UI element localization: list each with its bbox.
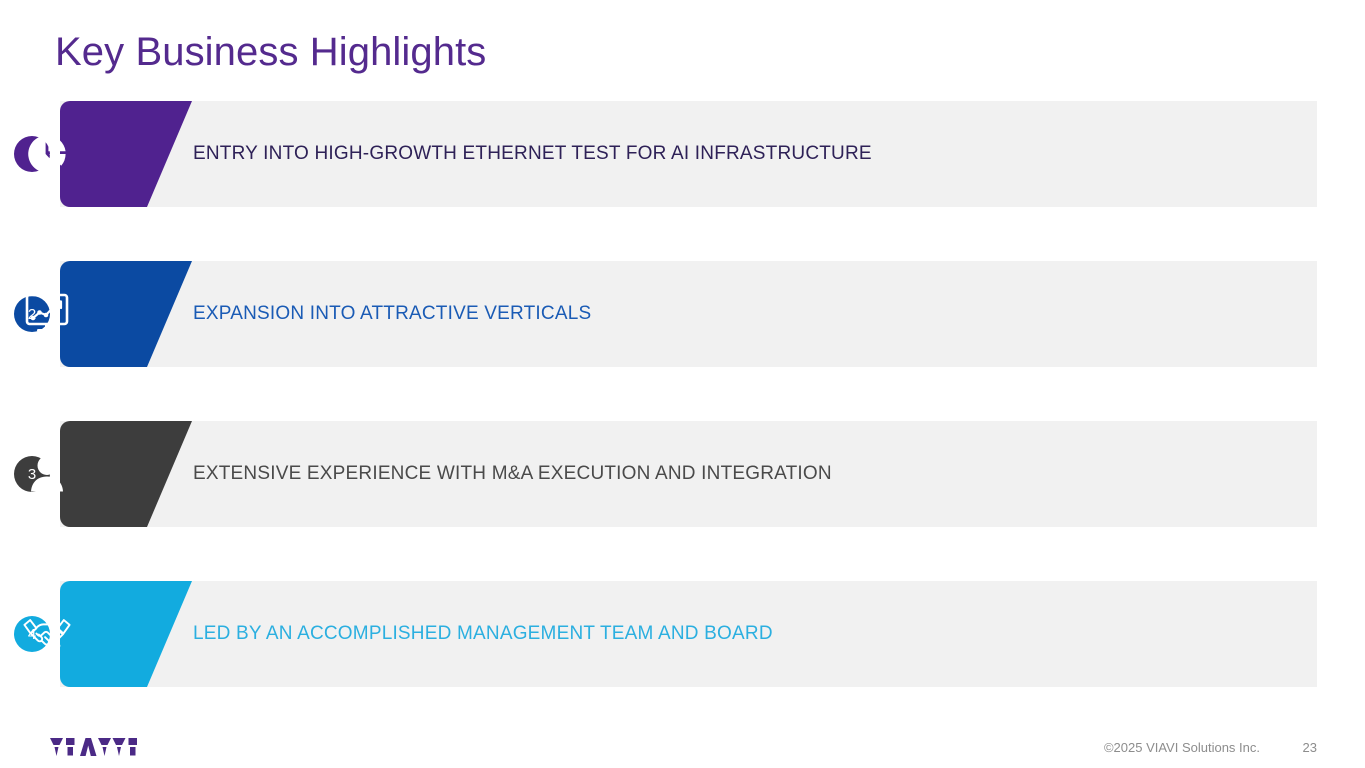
viavi-logo	[50, 735, 145, 759]
highlight-row: 3 EXTENSIVE EXPERIENCE WITH M&A EXECUTIO…	[0, 421, 1365, 527]
highlight-label-2: EXPANSION INTO ATTRACTIVE VERTICALS	[193, 261, 591, 367]
person-icon	[22, 449, 72, 499]
slide: Key Business Highlights 1 ENTRY INTO HIG…	[0, 0, 1365, 768]
footer-copyright: ©2025 VIAVI Solutions Inc.	[1104, 740, 1260, 755]
highlight-row: 1 ENTRY INTO HIGH-GROWTH ETHERNET TEST F…	[0, 101, 1365, 207]
highlight-label-4: LED BY AN ACCOMPLISHED MANAGEMENT TEAM A…	[193, 581, 773, 687]
highlight-label-1: ENTRY INTO HIGH-GROWTH ETHERNET TEST FOR…	[193, 101, 872, 207]
highlight-label-3: EXTENSIVE EXPERIENCE WITH M&A EXECUTION …	[193, 421, 832, 527]
highlight-row: 4 LED BY AN ACCOMPLISHED MANAGEMENT TEAM	[0, 581, 1365, 687]
handshake-icon	[22, 609, 72, 659]
highlight-row: 2 EXPANSION INTO ATTRACTIVE VERTICALS	[0, 261, 1365, 367]
footer-page-number: 23	[1303, 740, 1317, 755]
monitor-growth-chart-icon	[22, 289, 72, 339]
pie-chart-icon	[22, 129, 72, 179]
page-title: Key Business Highlights	[55, 24, 486, 80]
